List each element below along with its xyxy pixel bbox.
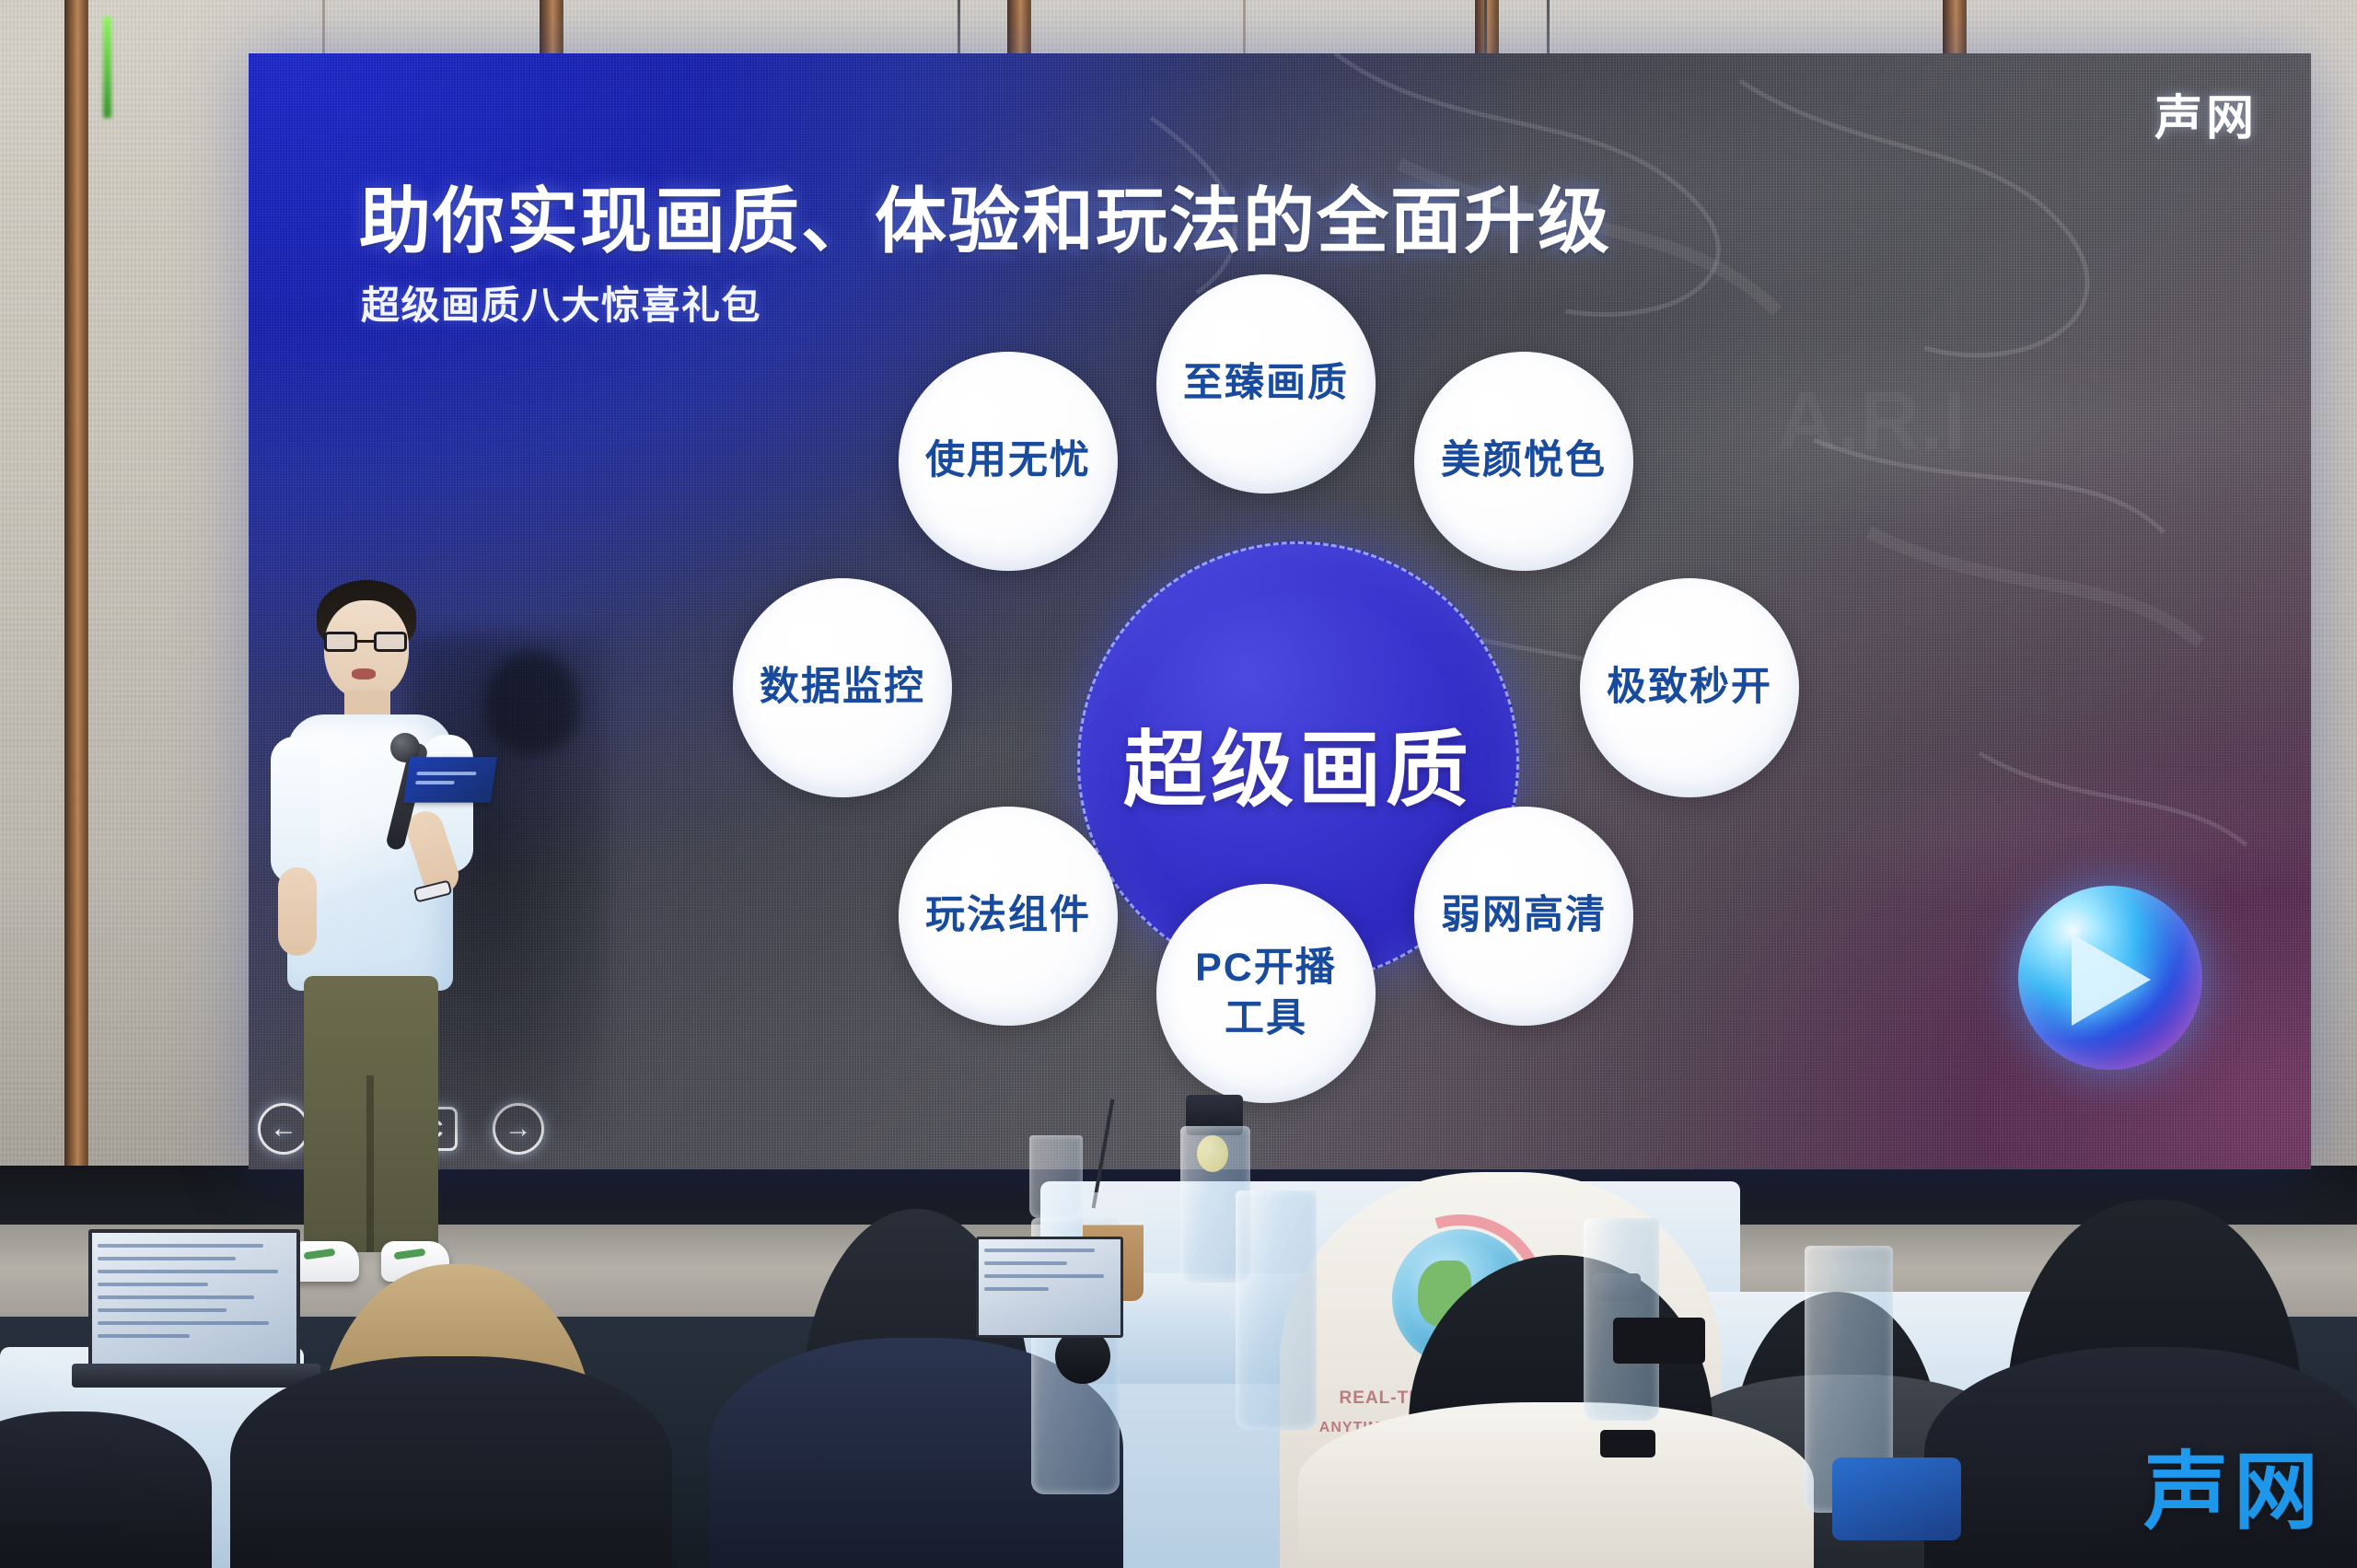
phone-device: [1613, 1318, 1705, 1364]
presenter-left-sleeve: [271, 737, 320, 884]
presenter-mouth: [352, 668, 376, 679]
drinking-glass: [1029, 1135, 1083, 1218]
bubble-meiyan-yuese[interactable]: 美颜悦色: [1414, 352, 1633, 571]
glasses-icon: [322, 632, 411, 652]
tablet-device: [1832, 1458, 1961, 1540]
diagram-center-label: 超级画质: [1123, 703, 1473, 822]
bubble-label: 美颜悦色: [1441, 436, 1607, 486]
bubble-label: 至臻画质: [1183, 358, 1349, 409]
bubble-jizhi-miaokai[interactable]: 极致秒开: [1580, 578, 1799, 797]
audience-foreground: REAL-TIME ENGAGEMENT ANYTIME, ANYWHERE, …: [0, 868, 2357, 1568]
bubble-shuju-jiankong[interactable]: 数据监控: [733, 578, 952, 797]
bubble-shiyong-wuyou[interactable]: 使用无忧: [899, 352, 1118, 571]
audience-shoulders: [1298, 1402, 1814, 1568]
bubble-label: 数据监控: [760, 662, 925, 713]
water-carafe: [1236, 1191, 1317, 1430]
bubble-zhizhen-huazhi[interactable]: 至臻画质: [1156, 274, 1376, 494]
bubble-label: 极致秒开: [1607, 662, 1772, 713]
conference-photo: A.R.I 助你实现画质、体验和玩法的全面升级 超级画质八大惊喜礼包 声网 超级…: [0, 0, 2357, 1568]
agora-logo: 声网: [2154, 79, 2258, 148]
microphone-flag: [403, 757, 497, 803]
laptop-screen: [976, 1237, 1123, 1338]
audience-shoulders: [230, 1356, 672, 1568]
green-edge-light: [103, 17, 111, 118]
slide-title: 助你实现画质、体验和玩法的全面升级: [359, 164, 1611, 267]
laptop-screen: [88, 1229, 300, 1367]
remote-device: [1600, 1430, 1655, 1458]
laptop-base: [72, 1364, 320, 1388]
watermark-logo: 声网: [2143, 1450, 2324, 1535]
bubble-label: 使用无忧: [925, 436, 1091, 486]
presenter-shadow-head: [484, 652, 580, 755]
